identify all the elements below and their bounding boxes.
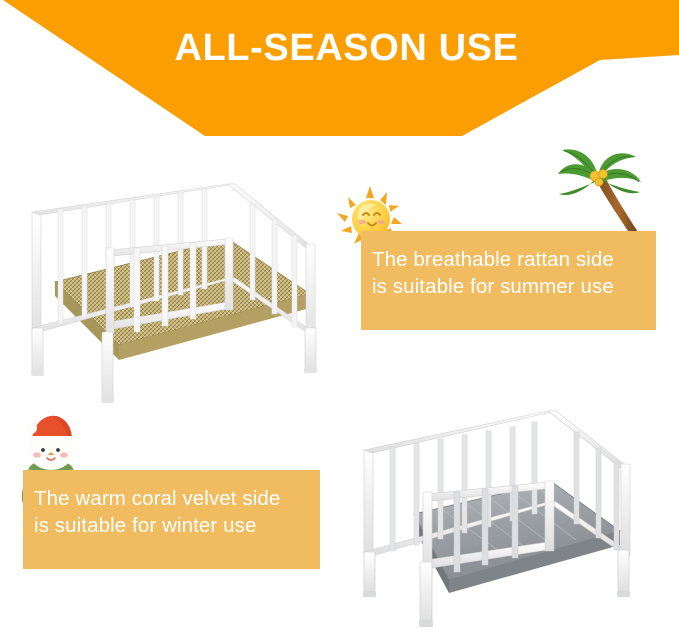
page-title: ALL-SEASON USE bbox=[0, 27, 679, 70]
product-image-rattan-bed bbox=[22, 182, 334, 412]
callout-text-summer: The breathable rattan side is suitable f… bbox=[372, 246, 650, 300]
product-image-velvet-bed bbox=[352, 402, 670, 631]
snowman-eye-right bbox=[56, 448, 60, 452]
snowman-cheek-right bbox=[60, 452, 68, 457]
snowman-cheek-left bbox=[33, 452, 41, 457]
callout-text-winter: The warm coral velvet side is suitable f… bbox=[34, 485, 314, 539]
bed2-foot-caps bbox=[363, 591, 630, 627]
snowman-eye-left bbox=[41, 448, 45, 452]
santa-hat-pompom bbox=[25, 422, 37, 434]
header-banner bbox=[0, 0, 679, 150]
bed-foot-caps bbox=[31, 367, 317, 403]
infographic-page: ALL-SEASON USE bbox=[0, 0, 679, 631]
santa-hat-brim bbox=[29, 436, 75, 445]
